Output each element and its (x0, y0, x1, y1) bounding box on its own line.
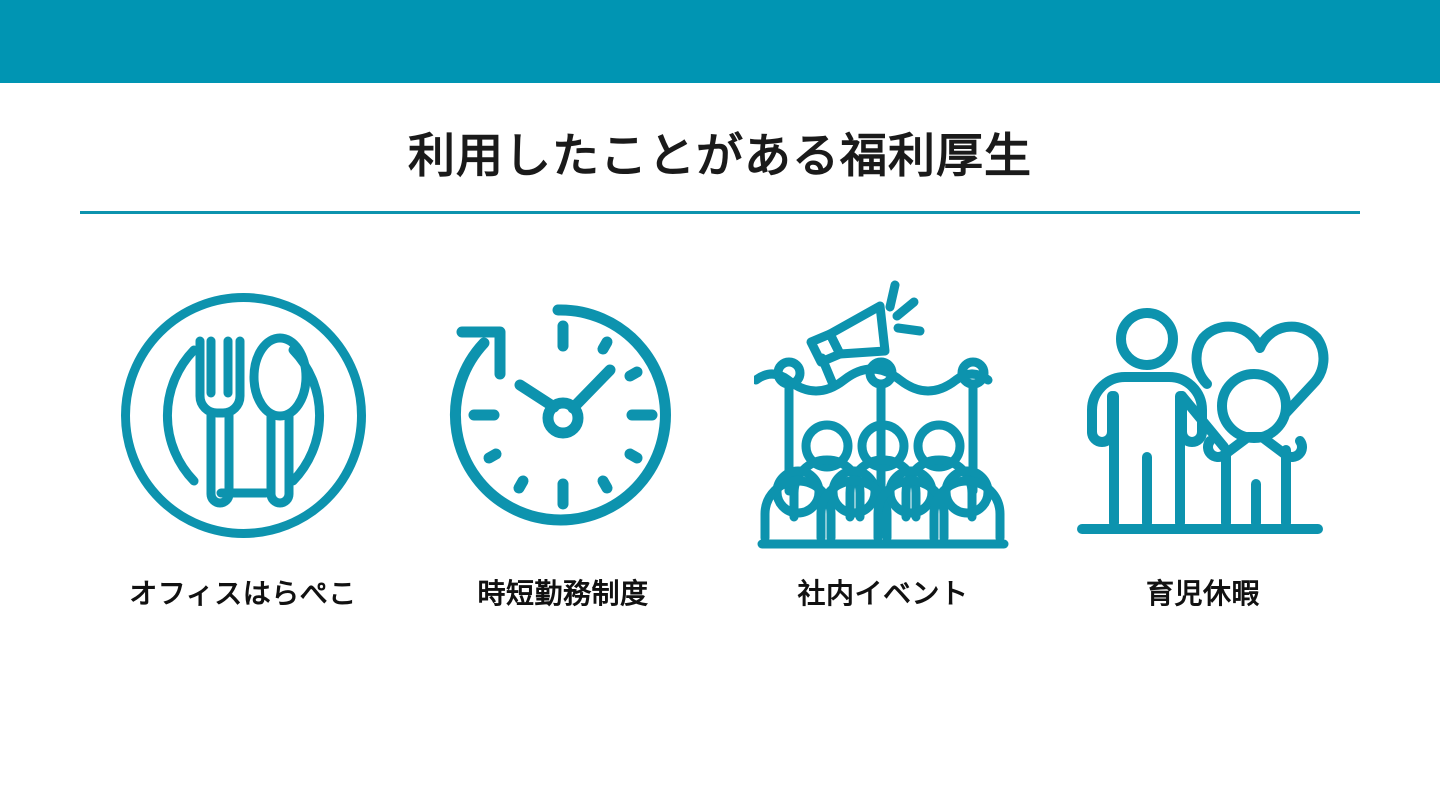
crowd-megaphone-icon (748, 280, 1018, 550)
clock-arrow-icon (428, 280, 698, 550)
parent-child-heart-icon (1068, 280, 1338, 550)
benefit-label: 時短勤務制度 (477, 572, 648, 612)
benefit-label: オフィスはらぺこ (129, 572, 356, 612)
benefit-label: 社内イベント (797, 572, 968, 612)
top-accent-bar (0, 0, 1440, 83)
benefit-card-childcare-leave[interactable]: 育児休暇 (1043, 280, 1363, 612)
benefit-card-company-event[interactable]: 社内イベント (723, 280, 1043, 612)
title-divider (80, 211, 1360, 214)
benefit-card-short-hours[interactable]: 時短勤務制度 (403, 280, 723, 612)
page-title: 利用したことがある福利厚生 (0, 128, 1440, 184)
benefit-card-office-harapeko[interactable]: オフィスはらぺこ (83, 280, 403, 612)
benefit-card-row: オフィスはらぺこ (0, 280, 1440, 660)
benefit-label: 育児休暇 (1146, 572, 1260, 612)
plate-fork-spoon-icon (108, 280, 378, 550)
slide: 利用したことがある福利厚生 (0, 0, 1440, 810)
